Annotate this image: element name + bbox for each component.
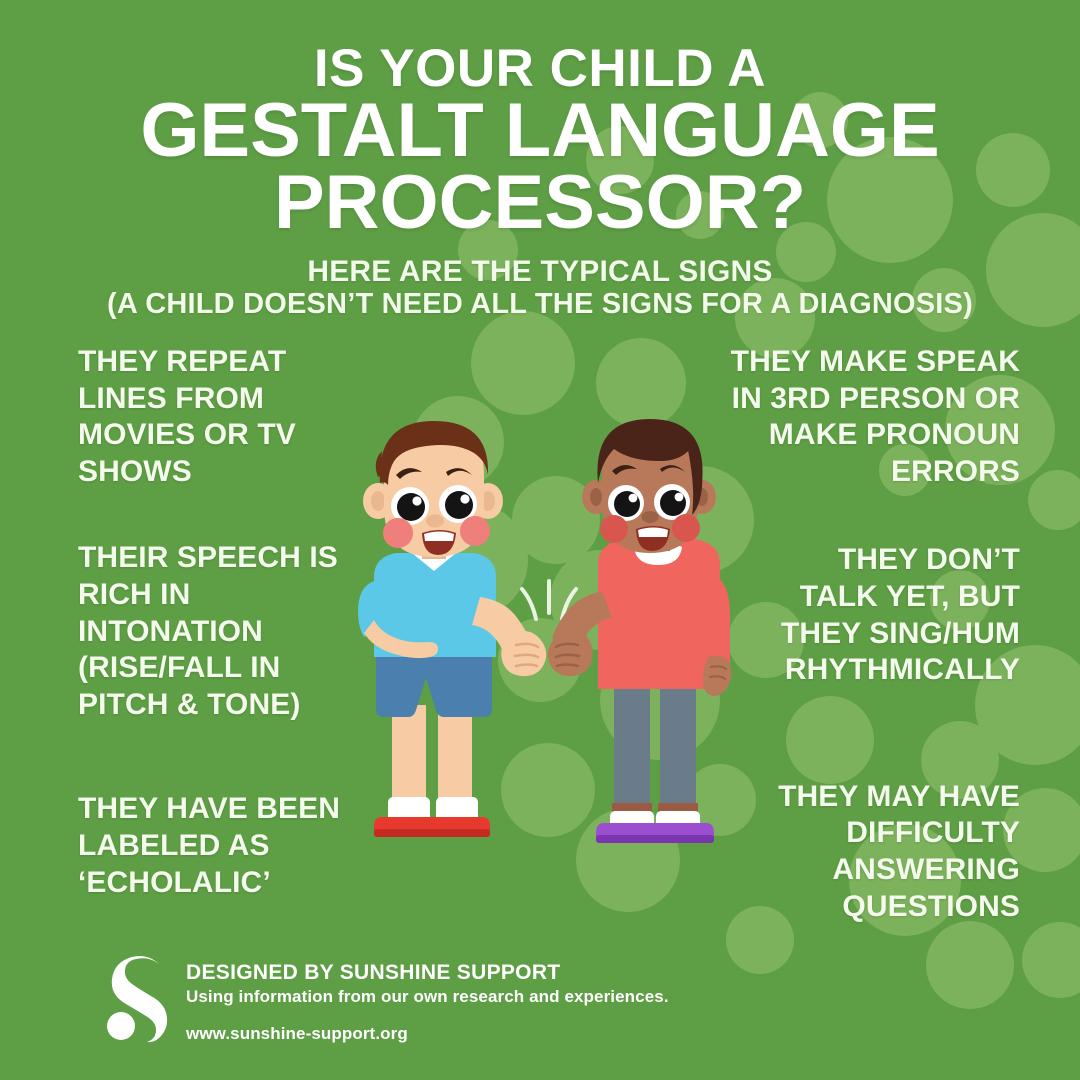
footer-website[interactable]: www.sunshine-support.org: [186, 1024, 669, 1044]
sign-item-right-3: THEY MAY HAVE DIFFICULTY ANSWERING QUEST…: [710, 779, 1020, 925]
footer-designed-by: DESIGNED BY SUNSHINE SUPPORT: [186, 961, 669, 985]
left-child: [358, 421, 546, 837]
signs-column-right: THEY MAKE SPEAK IN 3RD PERSON OR MAKE PR…: [710, 344, 1020, 925]
sign-item-left-3: THEY HAVE BEEN LABELED AS ‘ECHOLALIC’: [78, 791, 378, 901]
footer-text-block: DESIGNED BY SUNSHINE SUPPORT Using infor…: [186, 951, 669, 1044]
infographic-poster: IS YOUR CHILD A GESTALT LANGUAGE PROCESS…: [0, 0, 1080, 1080]
subtitle: HERE ARE THE TYPICAL SIGNS (A CHILD DOES…: [0, 255, 1080, 321]
sign-item-right-2: THEY DON’T TALK YET, BUT THEY SING/HUM R…: [710, 542, 1020, 688]
subtitle-line-1: HERE ARE THE TYPICAL SIGNS: [307, 255, 772, 288]
sign-item-left-1: THEY REPEAT LINES FROM MOVIES OR TV SHOW…: [78, 344, 378, 490]
poster-header: IS YOUR CHILD A GESTALT LANGUAGE PROCESS…: [0, 0, 1080, 321]
sunshine-support-logo-icon: [104, 951, 174, 1043]
title-line-2: GESTALT LANGUAGE: [0, 92, 1080, 170]
signs-column-left: THEY REPEAT LINES FROM MOVIES OR TV SHOW…: [78, 344, 378, 901]
sign-item-right-1: THEY MAKE SPEAK IN 3RD PERSON OR MAKE PR…: [710, 344, 1020, 490]
title-line-3: PROCESSOR?: [0, 164, 1080, 242]
two-children-fist-bump-illustration: [330, 405, 760, 865]
footer-tagline: Using information from our own research …: [186, 986, 669, 1008]
right-child: [548, 419, 732, 843]
subtitle-line-2: (A CHILD DOESN’T NEED ALL THE SIGNS FOR …: [0, 289, 1080, 321]
sign-item-left-2: THEIR SPEECH IS RICH IN INTONATION (RISE…: [78, 540, 378, 723]
footer-branding: DESIGNED BY SUNSHINE SUPPORT Using infor…: [104, 951, 669, 1044]
